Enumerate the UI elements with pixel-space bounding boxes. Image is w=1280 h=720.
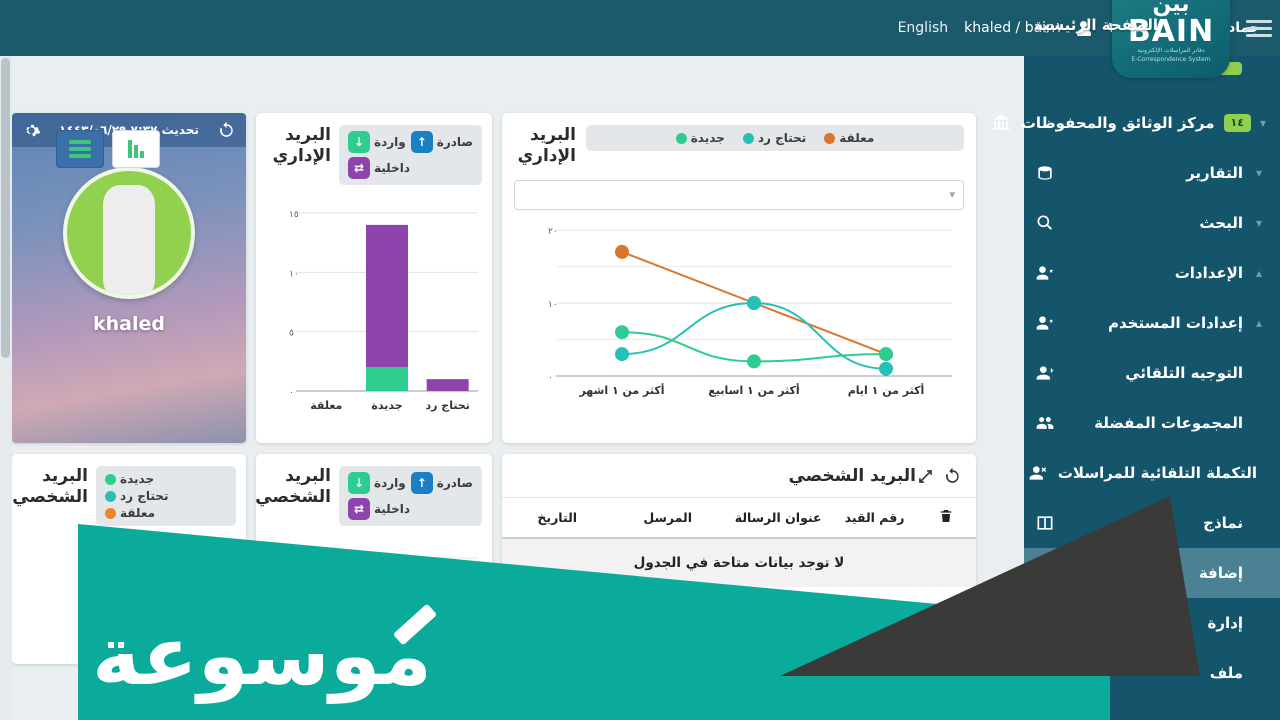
sidebar-label-favorite-groups: المجموعات المفضلة: [1065, 414, 1243, 432]
scrollbar-thumb[interactable]: [1, 58, 10, 358]
sidebar-item-search[interactable]: ▾ البحث: [1024, 198, 1280, 248]
user-arrow-icon: [1034, 362, 1056, 384]
legend-item-incoming-personal[interactable]: واردة ↓: [348, 472, 406, 494]
legend-label-incoming-personal: واردة: [374, 476, 406, 490]
svg-text:١٠: ١٠: [289, 269, 299, 279]
chevron-down-icon: ▾: [1260, 116, 1266, 130]
chart-icon: [128, 140, 144, 158]
legend-label-incoming: واردة: [374, 135, 406, 149]
sidebar-label-search: البحث: [1065, 214, 1243, 232]
table-col-date: التاريخ: [502, 498, 613, 538]
legend-label-needs-reply: تحتاج رد: [758, 131, 806, 145]
search-icon: [1034, 212, 1056, 234]
svg-text:٠: ٠: [289, 388, 294, 398]
brand-subtitle-ar: دفاتر المراسلات الإلكترونية: [1137, 47, 1204, 55]
svg-text:أكثر من ١ اشهر: أكثر من ١ اشهر: [578, 383, 664, 397]
list-icon: [69, 140, 91, 158]
table-col-delete[interactable]: [916, 498, 976, 538]
table-header: رقم القيد عنوان الرسالة المرسل التاريخ: [502, 498, 976, 538]
table-col-sender: المرسل: [613, 498, 723, 538]
legend-dot-needs-reply: [743, 133, 754, 144]
profile-name-label: khaled: [12, 313, 246, 335]
legend-label-outgoing: صادرة: [437, 135, 473, 149]
legend-dot-new: [676, 133, 687, 144]
user-x-icon: [1027, 462, 1049, 484]
users-icon: [1034, 412, 1056, 434]
legend-item-needs-reply-personal[interactable]: تحتاج رد: [105, 489, 168, 503]
sidebar-label-user-settings: إعدادات المستخدم: [1065, 314, 1243, 332]
legend-label-new: جديدة: [691, 131, 725, 145]
sidebar-label-settings: الإعدادات: [1065, 264, 1243, 282]
personal-mail-table-title: البريد الشخصي: [516, 466, 916, 487]
svg-text:٠: ٠: [548, 373, 553, 383]
chart-view-button[interactable]: [112, 130, 160, 168]
brand-arabic-label: بين: [1152, 0, 1189, 16]
view-toggle-group: [56, 130, 160, 168]
sidebar-label-documents-center: مركز الوثائق والمحفوظات: [1021, 114, 1215, 132]
refresh-icon[interactable]: [943, 467, 962, 486]
svg-text:١٥: ١٥: [289, 210, 299, 220]
brand-subtitle-en: E-Correspondence System: [1131, 56, 1210, 64]
list-view-button[interactable]: [56, 130, 104, 168]
legend-label-outgoing-personal: صادرة: [437, 476, 473, 490]
arrow-down-icon: ↓: [348, 472, 370, 494]
svg-text:٢٠: ٢٠: [548, 227, 558, 237]
top-bar: جمادى الثانية-٢٩-١٤٤٣ khaled / bain١٠ En…: [0, 0, 1280, 56]
legend-item-warida[interactable]: واردة ↓: [348, 131, 406, 153]
personal-mail-bar-legend: صادرة ↑ واردة ↓ داخلية ⇄: [339, 466, 482, 526]
table-col-subject: عنوان الرسالة: [723, 498, 833, 538]
svg-text:٥: ٥: [289, 329, 294, 339]
sidebar-item-reports[interactable]: ▾ التقارير: [1024, 148, 1280, 198]
chevron-down-icon: ▾: [949, 188, 955, 201]
legend-label-pending-personal: معلقة: [120, 506, 155, 520]
legend-label-needs-reply-personal: تحتاج رد: [120, 489, 168, 503]
watermark-text: موسوعة: [92, 616, 432, 698]
expand-icon[interactable]: [916, 467, 935, 486]
legend-item-outgoing-personal[interactable]: صادرة ↑: [411, 472, 473, 494]
legend-label-new-personal: جديدة: [120, 472, 154, 486]
bank-icon: [990, 112, 1012, 134]
arrow-up-icon: ↑: [411, 472, 433, 494]
legend-dot-needs-reply-personal: [105, 491, 116, 502]
chevron-up-icon: ▴: [1252, 266, 1266, 280]
avatar: [63, 167, 195, 299]
legend-item-dakhilya[interactable]: داخلية ⇄: [348, 157, 410, 179]
svg-text:١٠: ١٠: [548, 300, 558, 310]
language-switch-link[interactable]: English: [898, 20, 949, 36]
admin-mail-bar-card: البريد الإداري صادرة ↑ واردة ↓: [256, 113, 492, 443]
refresh-icon[interactable]: [217, 121, 236, 140]
legend-dot-pending-personal: [105, 508, 116, 519]
hamburger-icon[interactable]: [1238, 11, 1272, 45]
svg-text:أكثر من ١ اسابيع: أكثر من ١ اسابيع: [708, 383, 799, 397]
admin-mail-filter-select[interactable]: ▾: [514, 180, 964, 210]
chevron-down-icon: ▾: [1252, 216, 1266, 230]
legend-label-pending: معلقة: [839, 131, 874, 145]
admin-mail-bar-chart: ٠٥١٠١٥معلقةجديدةتحتاج رد: [256, 203, 492, 433]
arrow-up-icon: ↑: [411, 131, 433, 153]
sidebar-item-auto-routing[interactable]: التوجيه التلقائي: [1024, 348, 1280, 398]
sidebar-item-favorite-groups[interactable]: المجموعات المفضلة: [1024, 398, 1280, 448]
sidebar-label-auto-routing: التوجيه التلقائي: [1065, 364, 1243, 382]
admin-mail-line-legend: معلقة تحتاج رد جديدة: [586, 125, 964, 151]
brand-logo[interactable]: بين BAIN دفاتر المراسلات الإلكترونية E-C…: [1112, 0, 1230, 78]
svg-text:جديدة: جديدة: [371, 399, 402, 412]
gear-icon[interactable]: [22, 121, 41, 140]
admin-mail-bar-title: البريد الإداري: [266, 125, 331, 168]
report-icon: [1034, 162, 1056, 184]
page-scrollbar[interactable]: [0, 56, 12, 720]
columns-icon: [1034, 512, 1056, 534]
admin-mail-line-chart: ٠١٠٢٠أكثر من ١ اشهرأكثر من ١ اسابيعأكثر …: [502, 216, 976, 416]
legend-item-internal-personal[interactable]: داخلية ⇄: [348, 498, 410, 520]
svg-text:أكثر من ١ ايام: أكثر من ١ ايام: [848, 383, 925, 397]
legend-label-internal-personal: داخلية: [374, 502, 410, 516]
legend-dot-pending: [824, 133, 835, 144]
legend-label-internal: داخلية: [374, 161, 410, 175]
legend-item-jadida-personal[interactable]: جديدة: [105, 472, 154, 486]
svg-text:معلقة: معلقة: [310, 399, 342, 412]
sidebar-item-documents-center[interactable]: ▾ ١٤ مركز الوثائق والمحفوظات: [1024, 98, 1280, 148]
sidebar-item-auto-complete[interactable]: التكملة التلقائية للمراسلات: [1024, 448, 1280, 498]
sidebar-item-user-settings[interactable]: ▴ إعدادات المستخدم: [1024, 298, 1280, 348]
exchange-icon: ⇄: [348, 157, 370, 179]
chevron-down-icon: ▾: [1252, 166, 1266, 180]
sidebar-item-settings[interactable]: ▴ الإعدادات: [1024, 248, 1280, 298]
user-gear-icon: [1034, 262, 1056, 284]
sidebar-badge-documents: ١٤: [1224, 114, 1251, 131]
sidebar-label-reports: التقارير: [1065, 164, 1243, 182]
sidebar-label-auto-complete: التكملة التلقائية للمراسلات: [1058, 464, 1257, 482]
app-root: جمادى الثانية-٢٩-١٤٤٣ khaled / bain١٠ En…: [0, 0, 1280, 720]
chevron-up-icon: ▴: [1252, 316, 1266, 330]
table-col-record-no: رقم القيد: [833, 498, 915, 538]
admin-mail-bar-legend: صادرة ↑ واردة ↓ داخلية ⇄: [339, 125, 482, 185]
admin-mail-line-title: البريد الإداري: [514, 125, 576, 168]
personal-mail-legend-title: البريد الشخصي: [22, 466, 88, 509]
legend-item-pending-personal[interactable]: معلقة: [105, 506, 155, 520]
personal-mail-bar-title: البريد الشخصي: [259, 466, 331, 509]
home-page-link[interactable]: الصفحة الرئيسية: [1034, 16, 1158, 34]
svg-text:تحتاج رد: تحتاج رد: [425, 399, 469, 413]
exchange-icon: ⇄: [348, 498, 370, 520]
admin-mail-line-card: البريد الإداري معلقة تحتاج رد جديدة: [502, 113, 976, 443]
legend-item-jadida[interactable]: جديدة: [676, 131, 725, 145]
legend-item-tahtaj-rad[interactable]: تحتاج رد: [743, 131, 806, 145]
arrow-down-icon: ↓: [348, 131, 370, 153]
legend-dot-new-personal: [105, 474, 116, 485]
legend-item-sadira[interactable]: صادرة ↑: [411, 131, 473, 153]
legend-item-muallaqa[interactable]: معلقة: [824, 131, 874, 145]
personal-mail-legend-box: جديدة تحتاج رد معلقة: [96, 466, 236, 526]
user-gear-icon: [1034, 312, 1056, 334]
